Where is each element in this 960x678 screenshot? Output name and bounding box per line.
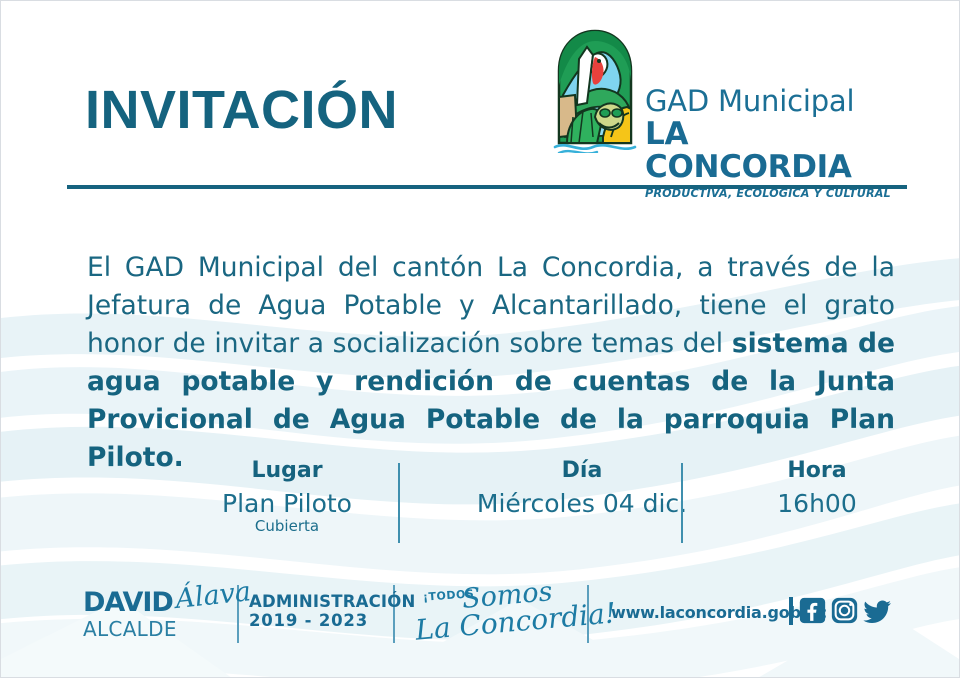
detail-divider-1 — [398, 463, 400, 543]
logo-line-la-concordia: LA CONCORDIA — [645, 118, 901, 183]
poster-header: INVITACIÓN — [1, 1, 960, 187]
header-divider — [67, 185, 907, 189]
logo-wordmark: GAD Municipal LA CONCORDIA PRODUCTIVA, E… — [645, 87, 901, 200]
mayor-surname-script: Álava — [174, 578, 252, 613]
detail-hora: Hora 16h00 — [727, 459, 907, 519]
facebook-icon[interactable] — [799, 597, 826, 624]
gad-municipal-logo: GAD Municipal LA CONCORDIA PRODUCTIVA, E… — [549, 25, 899, 173]
detail-hora-value: 16h00 — [727, 488, 907, 519]
logo-tagline: PRODUCTIVA, ECOLÓGICA Y CULTURAL — [645, 187, 901, 200]
administration-period: ADMINISTRACIÓN 2019 - 2023 — [249, 593, 415, 631]
invitation-text: El GAD Municipal del cantón La Concordia… — [87, 249, 895, 477]
event-details: Lugar Plan Piloto Cubierta Día Miércoles… — [67, 459, 907, 551]
mayor-signature: DAVID Álava ALCALDE — [83, 589, 243, 637]
administration-years: 2019 - 2023 — [249, 612, 415, 631]
twitter-icon[interactable] — [863, 597, 892, 624]
instagram-icon[interactable] — [831, 597, 858, 624]
poster-footer: DAVID Álava ALCALDE ADMINISTRACIÓN 2019 … — [1, 579, 960, 651]
detail-hora-label: Hora — [727, 459, 907, 483]
social-links — [799, 597, 892, 624]
social-divider — [789, 597, 793, 625]
detail-dia-value: Miércoles 04 dic. — [437, 488, 727, 519]
page-title: INVITACIÓN — [85, 83, 398, 137]
detail-divider-2 — [681, 463, 683, 543]
city-slogan: ¡TODOS Somos La Concordia! — [407, 583, 572, 641]
administration-label: ADMINISTRACIÓN — [249, 593, 415, 612]
invitation-poster: INVITACIÓN — [0, 0, 960, 678]
detail-dia: Día Miércoles 04 dic. — [437, 459, 727, 519]
detail-dia-label: Día — [437, 459, 727, 483]
website-url[interactable]: www.laconcordia.gob.ec — [611, 603, 827, 622]
logo-line-gad-municipal: GAD Municipal — [645, 87, 901, 116]
la-concordia-crest-icon — [549, 25, 641, 153]
mayor-role: ALCALDE — [83, 619, 243, 639]
